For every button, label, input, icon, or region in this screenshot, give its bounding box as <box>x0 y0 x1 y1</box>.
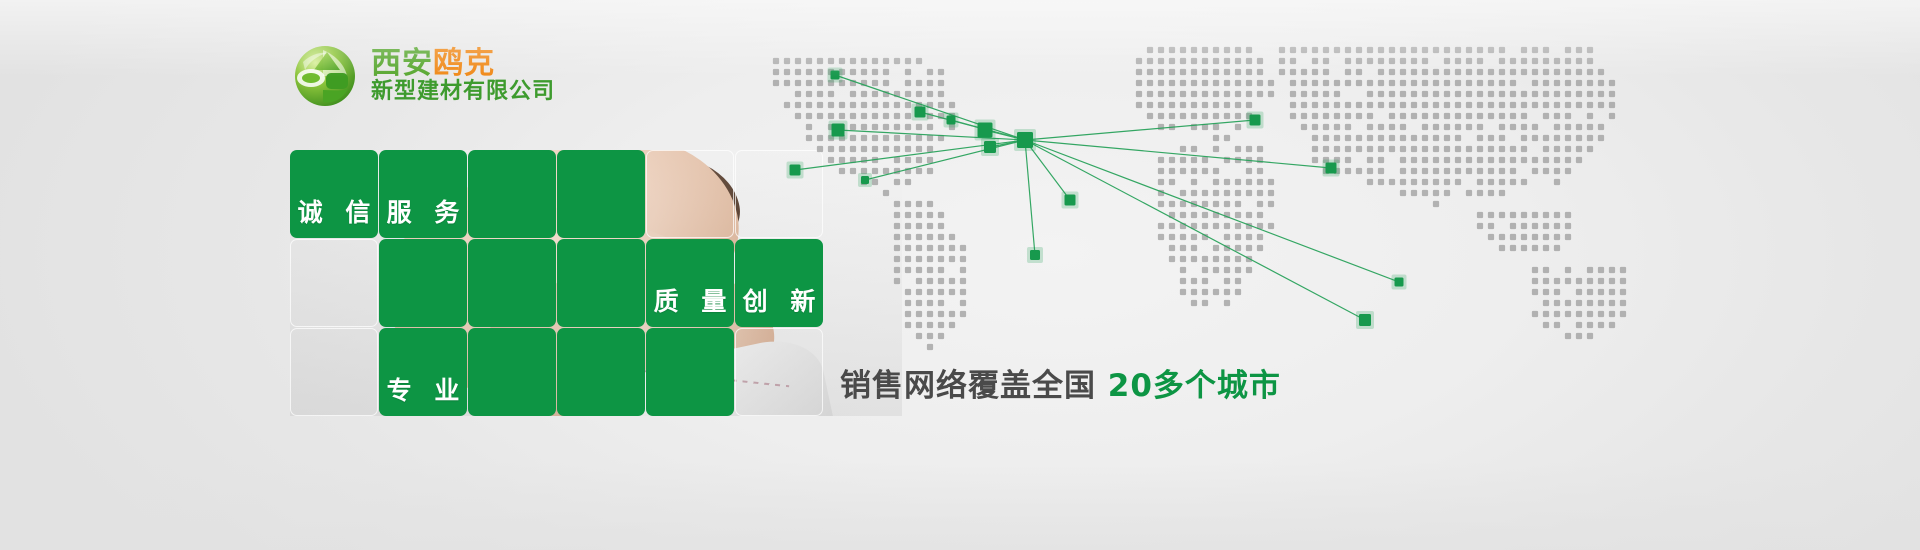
tile-label: 专 业 <box>379 378 467 403</box>
brand-name-prefix: 西安 <box>371 46 433 81</box>
brand-name: 西安鸥克 <box>371 49 555 79</box>
tile-blank[interactable] <box>468 239 556 327</box>
world-dot-map <box>735 20 1670 360</box>
tile-blank[interactable] <box>290 328 378 416</box>
tile-诚信[interactable]: 诚 信 <box>290 150 378 238</box>
brand-logo[interactable]: 西安鸥克 新型建材有限公司 <box>293 44 555 108</box>
tile-blank[interactable] <box>290 239 378 327</box>
banner-stage: 西安鸥克 新型建材有限公司 诚 信服 务质 量创 新专 业 销售网络覆盖全国 2… <box>0 0 1920 550</box>
tile-label: 服 务 <box>379 200 467 225</box>
leaf-globe-logo-icon <box>293 44 357 108</box>
tile-blank[interactable] <box>557 328 645 416</box>
tile-blank[interactable] <box>468 328 556 416</box>
tagline-text: 销售网络覆盖全国 <box>840 368 1096 404</box>
tile-blank[interactable] <box>379 239 467 327</box>
tile-质量[interactable]: 质 量 <box>646 239 734 327</box>
tile-blank[interactable] <box>646 150 734 238</box>
tile-blank[interactable] <box>557 239 645 327</box>
tagline-accent: 20多个城市 <box>1108 368 1281 404</box>
tile-label: 诚 信 <box>290 200 378 225</box>
tile-blank[interactable] <box>468 150 556 238</box>
brand-name-main: 鸥克 <box>433 46 495 81</box>
sales-network-tagline: 销售网络覆盖全国 20多个城市 <box>840 360 1281 405</box>
tile-blank[interactable] <box>646 328 734 416</box>
tile-专业[interactable]: 专 业 <box>379 328 467 416</box>
tile-label: 质 量 <box>646 289 734 314</box>
tile-blank[interactable] <box>557 150 645 238</box>
brand-subtitle: 新型建材有限公司 <box>371 81 555 103</box>
tile-服务[interactable]: 服 务 <box>379 150 467 238</box>
